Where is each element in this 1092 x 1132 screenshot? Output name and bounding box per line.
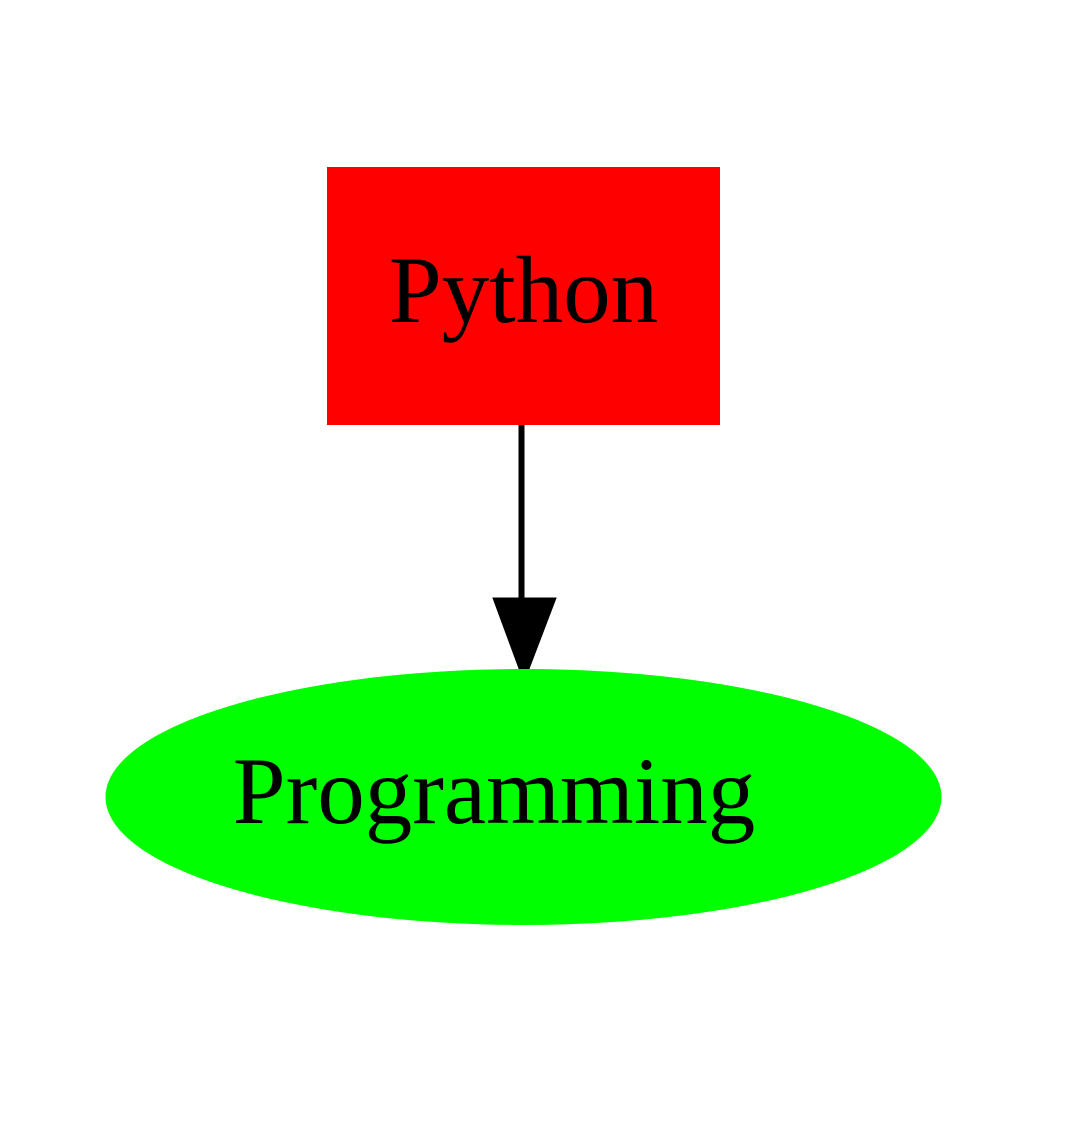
node-python-label: Python (389, 237, 658, 343)
node-python[interactable]: Python (327, 167, 720, 425)
graph-canvas: Python Programming (0, 0, 1092, 1132)
node-programming[interactable]: Programming (106, 669, 942, 925)
node-programming-label: Programming (233, 738, 755, 844)
graph-svg: Python Programming (0, 0, 1092, 1132)
